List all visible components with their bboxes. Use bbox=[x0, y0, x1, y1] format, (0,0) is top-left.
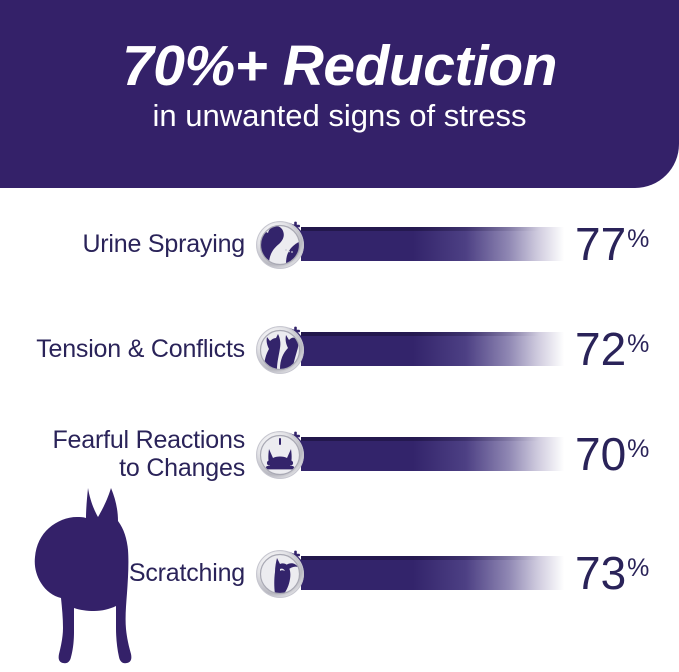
stat-number: 70 bbox=[575, 428, 626, 480]
bar-track bbox=[301, 437, 567, 471]
stat-label: Fearful Reactions to Changes bbox=[0, 426, 255, 482]
percent-symbol: % bbox=[627, 554, 649, 582]
stat-label: Scratching bbox=[0, 559, 255, 587]
percent-symbol: % bbox=[627, 225, 649, 253]
bar-fill bbox=[301, 332, 567, 366]
bar-track bbox=[301, 556, 567, 590]
stat-value: 73% bbox=[571, 550, 679, 596]
scratching-cat-badge-icon bbox=[255, 547, 307, 599]
bar-fill bbox=[301, 437, 567, 471]
stat-label: Tension & Conflicts bbox=[0, 335, 255, 363]
cat-spraying-badge-icon bbox=[255, 218, 307, 270]
stat-value: 70% bbox=[571, 431, 679, 477]
stat-value: 72% bbox=[571, 326, 679, 372]
subheadline: in unwanted signs of stress bbox=[153, 99, 527, 133]
stat-number: 72 bbox=[575, 323, 626, 375]
stat-number: 77 bbox=[575, 218, 626, 270]
stat-row: Urine Spraying bbox=[0, 214, 679, 274]
header-banner: 70%+ Reduction in unwanted signs of stre… bbox=[0, 0, 679, 188]
headline: 70%+ Reduction bbox=[122, 38, 557, 95]
bar-track bbox=[301, 332, 567, 366]
percent-symbol: % bbox=[627, 435, 649, 463]
bar-fill bbox=[301, 227, 567, 261]
stat-value: 77% bbox=[571, 221, 679, 267]
stat-row: Fearful Reactions to Changes bbox=[0, 424, 679, 484]
bar-fill bbox=[301, 556, 567, 590]
stat-bar-chart: Urine Spraying bbox=[0, 188, 679, 667]
crouching-cat-badge-icon bbox=[255, 428, 307, 480]
stat-row: Scratching bbox=[0, 543, 679, 603]
bar-track bbox=[301, 227, 567, 261]
stat-number: 73 bbox=[575, 547, 626, 599]
percent-symbol: % bbox=[627, 330, 649, 358]
stat-row: Tension & Conflicts bbox=[0, 319, 679, 379]
stat-label: Urine Spraying bbox=[0, 230, 255, 258]
two-cats-badge-icon bbox=[255, 323, 307, 375]
